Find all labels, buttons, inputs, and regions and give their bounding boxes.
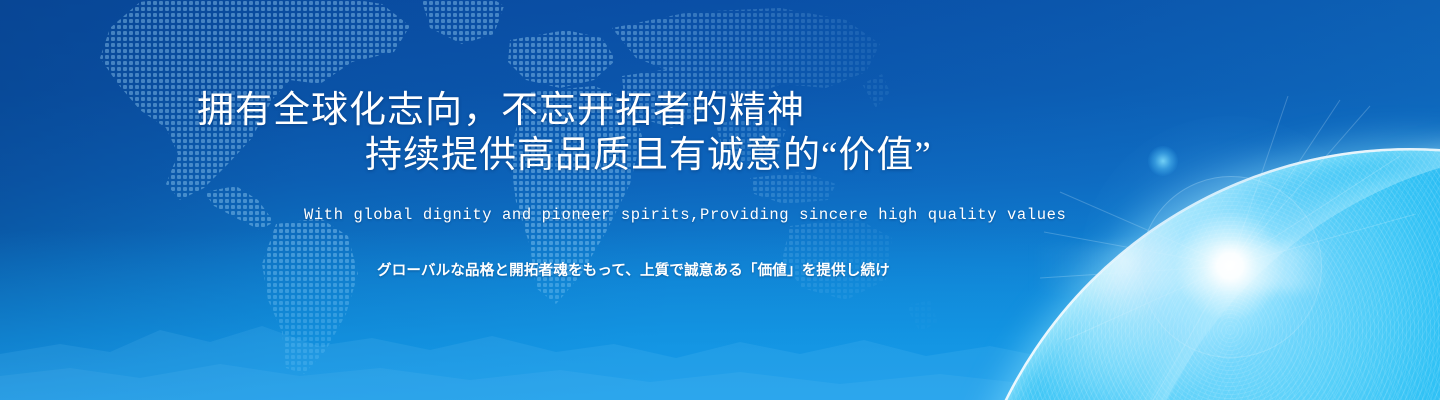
subline-english: With global dignity and pioneer spirits,… <box>304 206 1066 224</box>
headline-line-1: 拥有全球化志向，不忘开拓者的精神 <box>197 92 805 129</box>
banner-copy: 拥有全球化志向，不忘开拓者的精神 持续提供高品质且有诚意的“价值” With g… <box>0 0 1440 400</box>
hero-banner: 拥有全球化志向，不忘开拓者的精神 持续提供高品质且有诚意的“价值” With g… <box>0 0 1440 400</box>
headline-line-2: 持续提供高品质且有诚意的“价值” <box>365 137 932 174</box>
subline-japanese: グローバルな品格と開拓者魂をもって、上質で誠意ある「価値」を提供し続け <box>377 259 890 280</box>
